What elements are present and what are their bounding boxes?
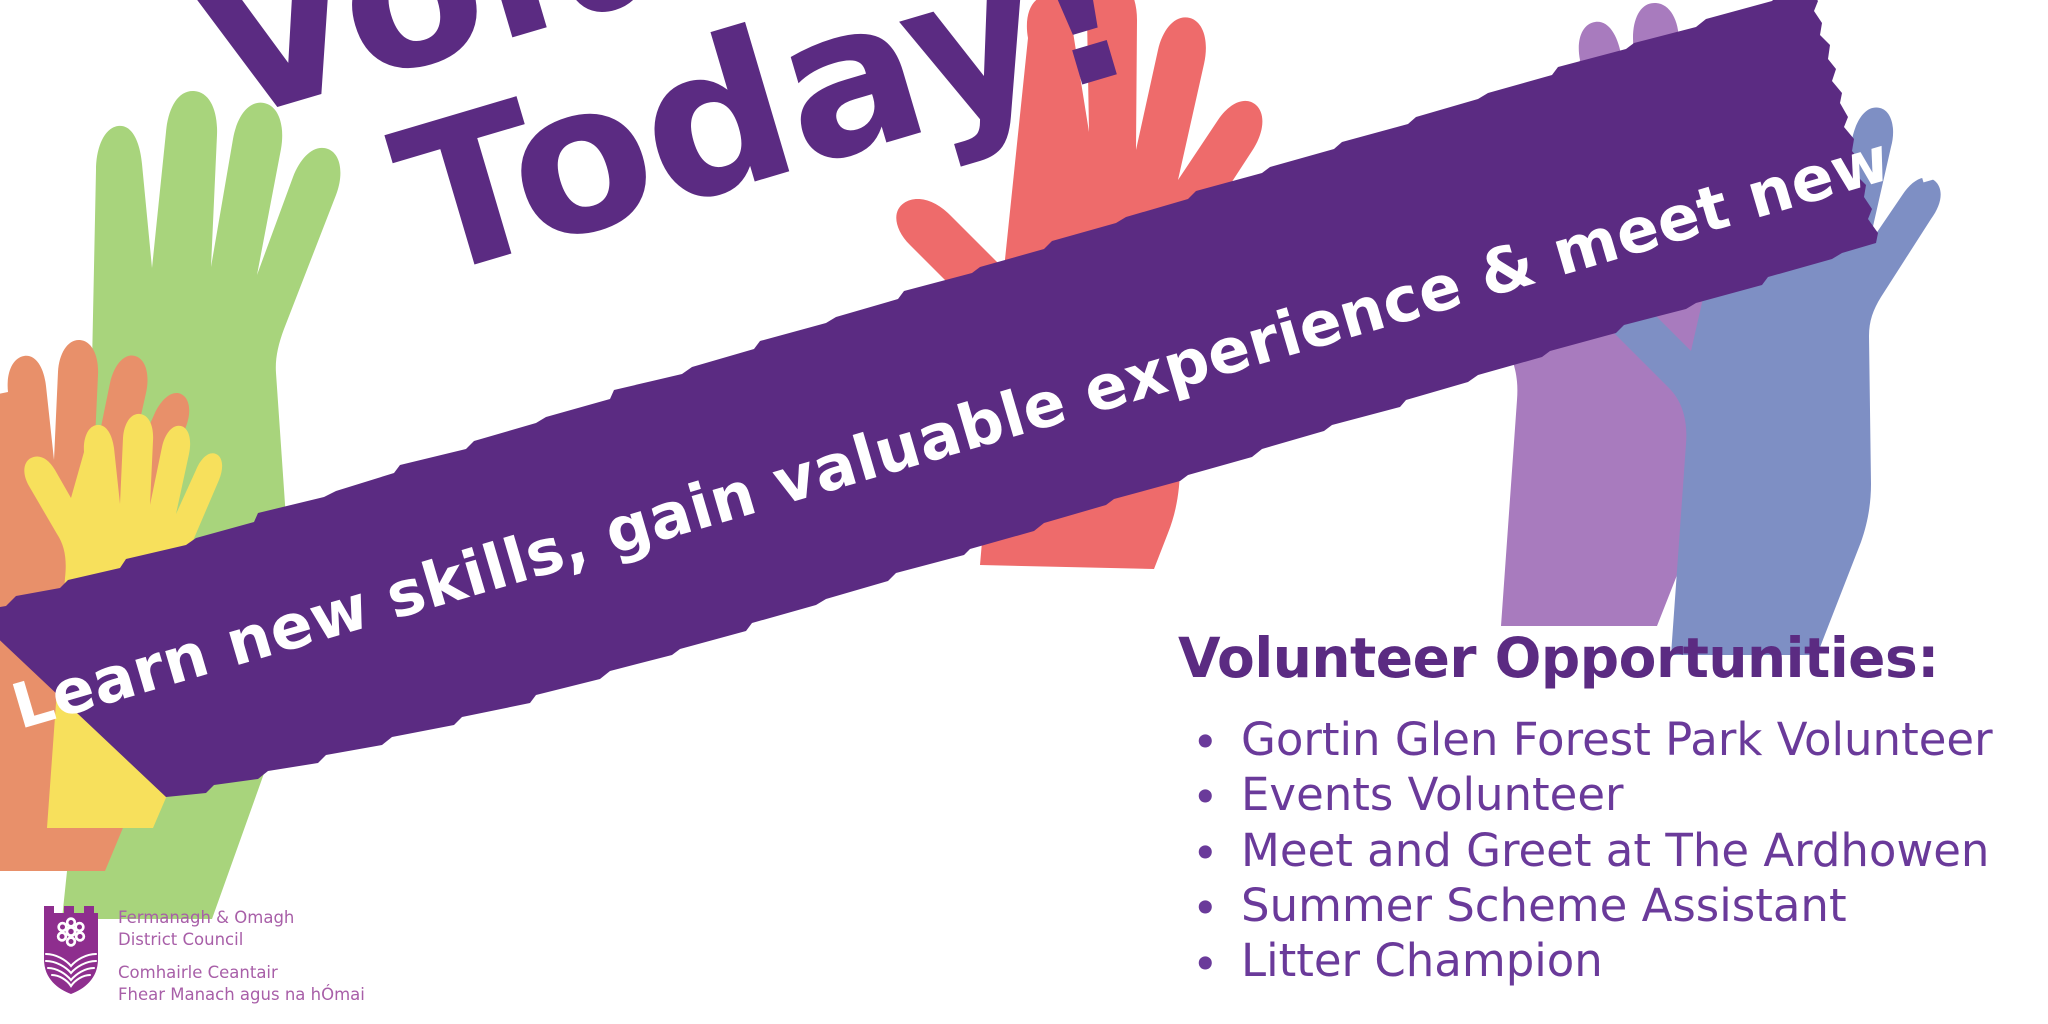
opportunities-title: Volunteer Opportunities: [1178, 626, 2028, 690]
volunteer-opportunities-block: Volunteer Opportunities: • Gortin Glen F… [1178, 626, 2028, 989]
opportunities-list: • Gortin Glen Forest Park Volunteer • Ev… [1178, 712, 2028, 989]
logo-line-4: Fhear Manach agus na hÓmai [118, 984, 365, 1006]
bullet-icon: • [1192, 770, 1219, 825]
bullet-icon: • [1192, 826, 1219, 881]
council-logo-text: Fermanagh & Omagh District Council Comha… [118, 902, 365, 1006]
bullet-icon: • [1192, 937, 1219, 992]
list-item-label: Gortin Glen Forest Park Volunteer [1241, 713, 1993, 766]
list-item: • Gortin Glen Forest Park Volunteer [1178, 712, 2028, 767]
logo-line-2: District Council [118, 929, 365, 951]
volunteer-poster: Volunteer Today! Learn new skills, gain … [0, 0, 2048, 1024]
bullet-icon: • [1192, 715, 1219, 770]
list-item-label: Summer Scheme Assistant [1241, 879, 1847, 932]
list-item: • Events Volunteer [1178, 767, 2028, 822]
logo-line-1: Fermanagh & Omagh [118, 907, 365, 929]
list-item-label: Litter Champion [1241, 934, 1603, 987]
logo-line-3: Comhairle Ceantair [118, 962, 365, 984]
bullet-icon: • [1192, 881, 1219, 936]
list-item-label: Events Volunteer [1241, 768, 1624, 821]
list-item-label: Meet and Greet at The Ardhowen [1241, 824, 1989, 877]
list-item: • Litter Champion [1178, 933, 2028, 988]
council-crest-icon [40, 902, 102, 994]
council-logo: Fermanagh & Omagh District Council Comha… [40, 902, 365, 1006]
logo-spacer [118, 951, 365, 962]
list-item: • Summer Scheme Assistant [1178, 878, 2028, 933]
list-item: • Meet and Greet at The Ardhowen [1178, 823, 2028, 878]
